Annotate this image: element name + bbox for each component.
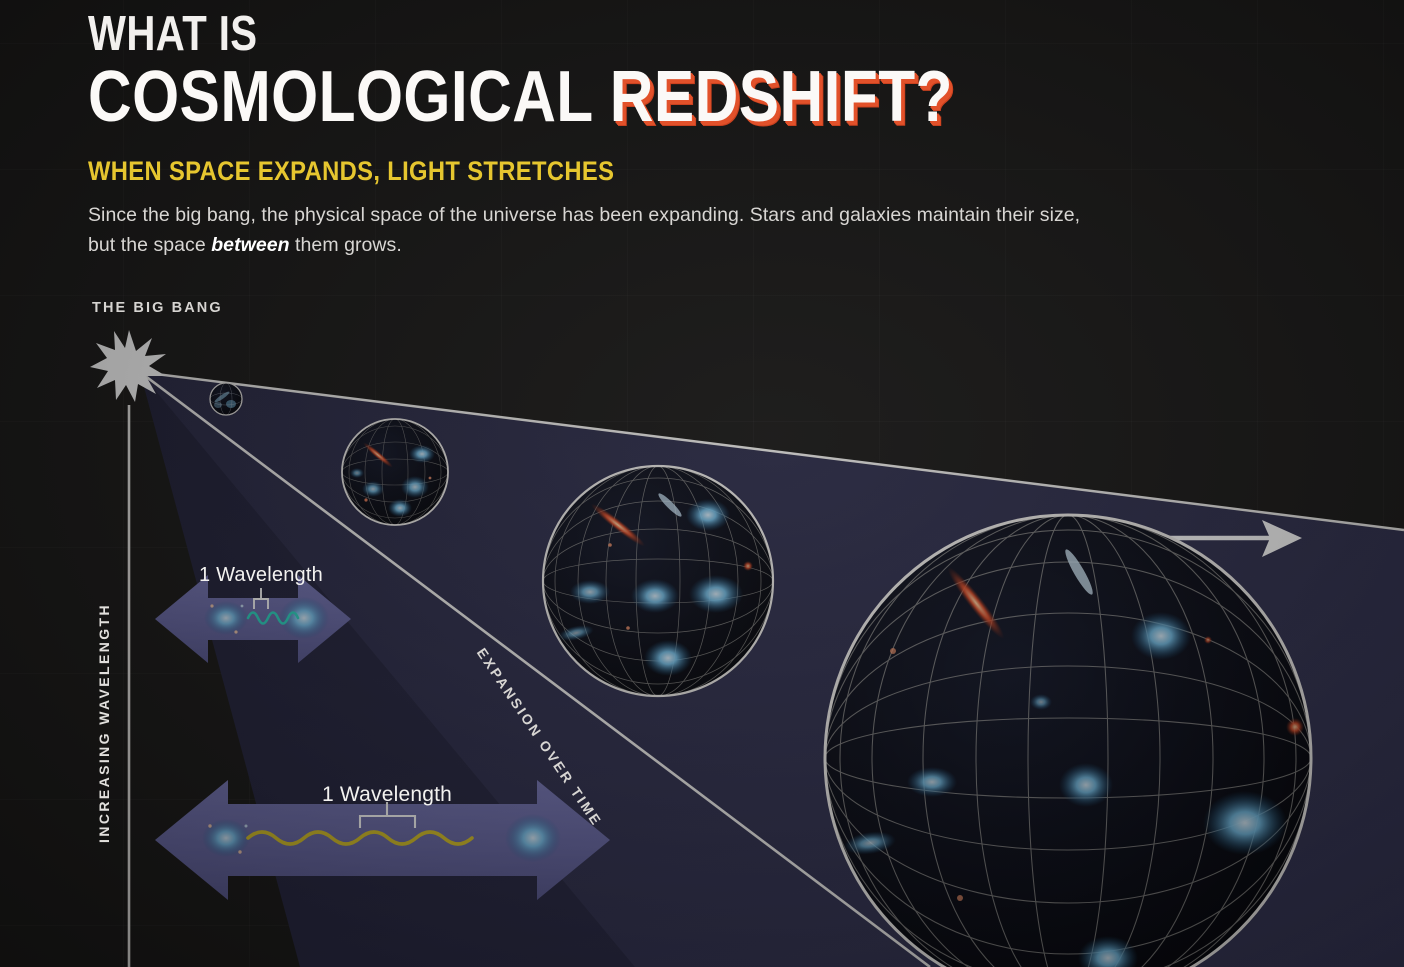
universe-sphere-stage4 (825, 515, 1311, 967)
title-redshift: REDSHIFT? (610, 57, 953, 137)
label-increasing-wavelength: INCREASING WAVELENGTH (96, 593, 112, 853)
title-line-1: WHAT IS (88, 10, 908, 59)
label-big-bang: THE BIG BANG (92, 300, 223, 316)
infographic-root: WHAT IS COSMOLOGICAL REDSHIFT? WHEN SPAC… (0, 0, 1404, 967)
label-wavelength-short: 1 Wavelength (199, 564, 323, 587)
header-block: WHAT IS COSMOLOGICAL REDSHIFT? WHEN SPAC… (88, 10, 1088, 261)
subtitle: WHEN SPACE EXPANDS, LIGHT STRETCHES (88, 156, 968, 187)
body-text-part2: them grows. (290, 234, 402, 256)
universe-sphere-stage1 (210, 383, 242, 415)
universe-sphere-stage3 (543, 466, 773, 696)
body-paragraph: Since the big bang, the physical space o… (88, 201, 1088, 260)
universe-sphere-stage2 (342, 419, 448, 525)
title-line-2: COSMOLOGICAL REDSHIFT? (88, 61, 928, 134)
body-text-emphasis: between (211, 234, 289, 256)
label-wavelength-long: 1 Wavelength (322, 783, 452, 807)
title-cosmological: COSMOLOGICAL (88, 57, 593, 137)
